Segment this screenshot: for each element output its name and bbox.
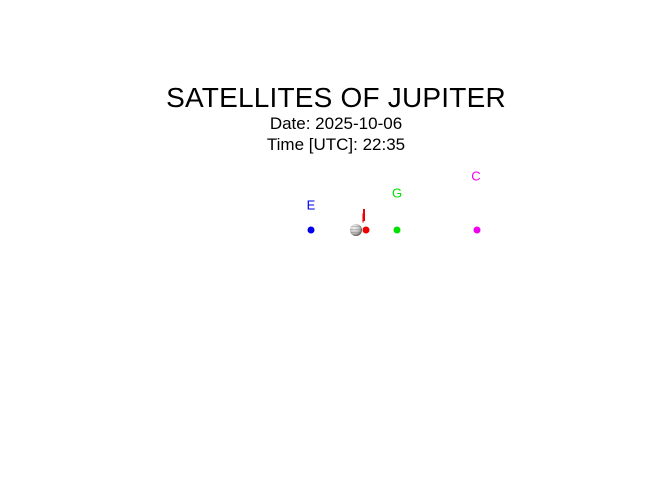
jupiter-disk[interactable]	[350, 224, 362, 236]
moon-marker-io[interactable]	[363, 227, 370, 234]
moon-label-europa: E	[307, 199, 316, 212]
moon-marker-ganymede[interactable]	[394, 227, 401, 234]
jupiter-band-texture	[350, 224, 362, 236]
moon-marker-europa[interactable]	[308, 227, 315, 234]
moon-marker-callisto[interactable]	[474, 227, 481, 234]
moon-label-ganymede: G	[392, 187, 402, 200]
moon-label-io: I	[361, 212, 365, 225]
moon-label-callisto: C	[471, 170, 480, 183]
satellites-of-jupiter-view: SATELLITES OF JUPITER Date: 2025-10-06 T…	[0, 0, 672, 480]
satellite-plot: E I G C	[0, 0, 672, 480]
